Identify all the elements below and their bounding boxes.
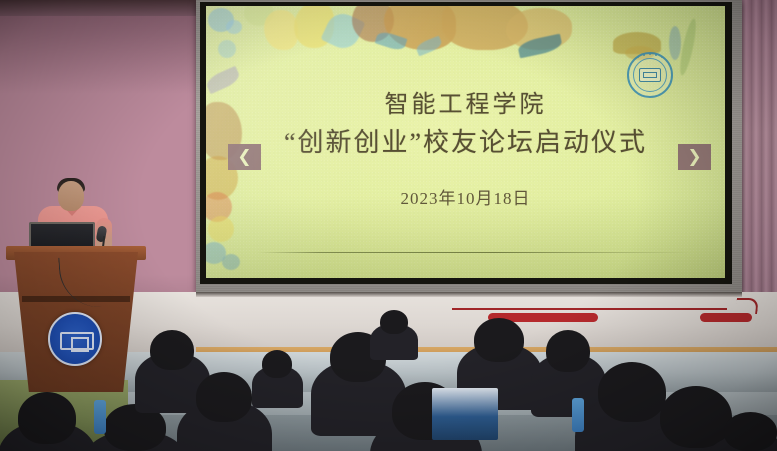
slide-text-block: 智能工程学院 “创新创业”校友论坛启动仪式 2023年10月18日 <box>206 92 725 209</box>
audience-head <box>380 310 408 334</box>
next-slide-arrow[interactable]: ❯ <box>678 144 711 170</box>
water-bottle-right <box>572 398 584 432</box>
auditorium-photo: 智能工程学院 “创新创业”校友论坛启动仪式 2023年10月18日 ❮ ❯ <box>0 0 777 451</box>
audience-head <box>196 372 252 422</box>
audience-head <box>262 350 292 378</box>
speaker-head <box>58 181 84 211</box>
water-bottle-left <box>94 400 106 434</box>
stage-curtain-right <box>741 0 777 330</box>
wall-accent-line <box>452 308 727 310</box>
audience-head <box>724 412 777 451</box>
audience-head <box>546 330 590 372</box>
wall-accent-hook <box>735 298 759 314</box>
audience-backpack <box>432 388 498 440</box>
seal-emblem <box>639 68 661 82</box>
audience-head <box>150 330 194 370</box>
screen-base-shadow <box>196 292 742 297</box>
slide-divider-line <box>258 252 689 253</box>
audience-head <box>18 392 76 444</box>
audience-head <box>598 362 666 422</box>
wall-accent-pill-right <box>700 313 752 322</box>
previous-slide-arrow[interactable]: ❮ <box>228 144 261 170</box>
audience-head <box>660 386 732 448</box>
seal-dot-ring <box>629 56 671 64</box>
curtain-rail-shadow <box>0 0 208 16</box>
projected-slide: 智能工程学院 “创新创业”校友论坛启动仪式 2023年10月18日 ❮ ❯ <box>206 6 725 278</box>
audience-head <box>474 318 524 362</box>
podium-university-emblem <box>48 312 102 366</box>
slide-institution-line: 智能工程学院 <box>206 92 725 120</box>
slide-date: 2023年10月18日 <box>206 184 725 209</box>
slide-event-title: “创新创业”校友论坛启动仪式 <box>206 128 725 159</box>
